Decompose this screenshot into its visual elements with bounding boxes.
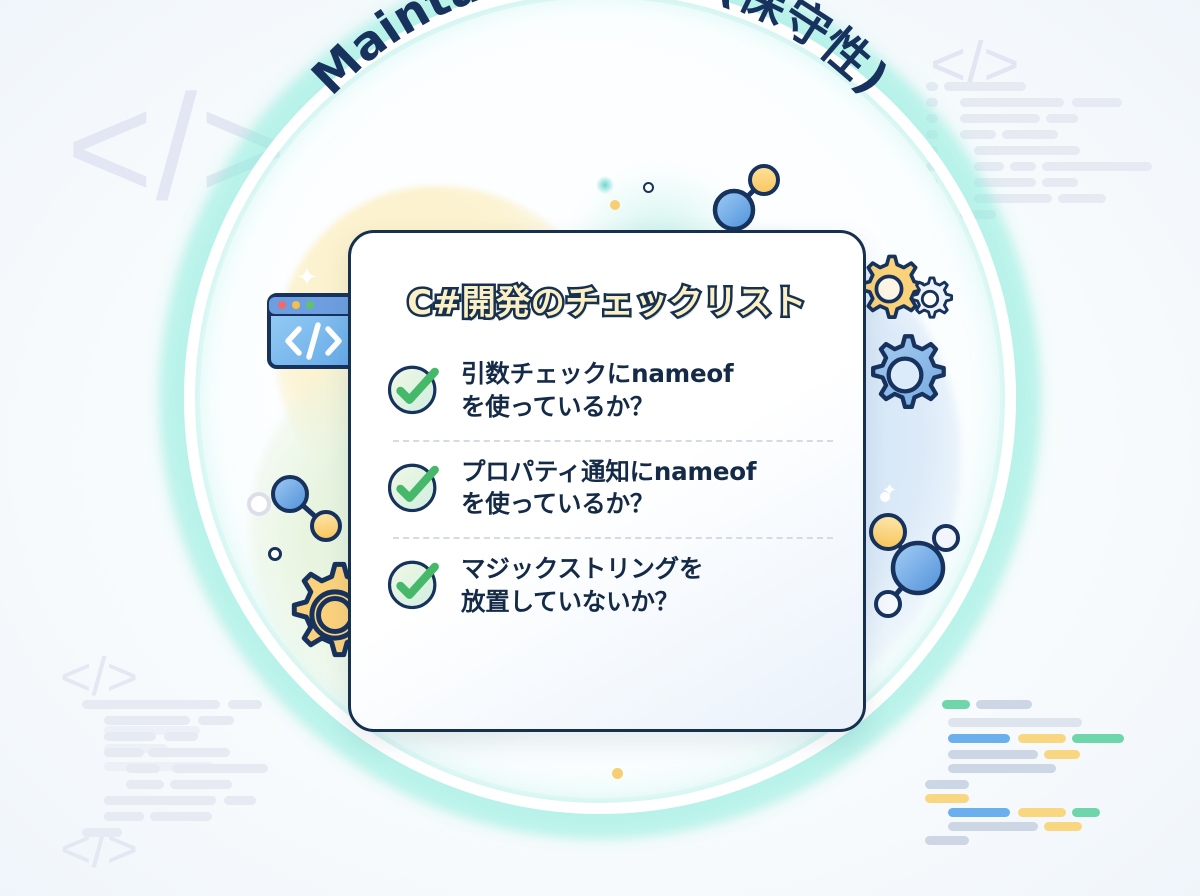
check-circle-icon <box>385 555 443 613</box>
list-item[interactable]: 引数チェックにnameof を使っているか？ <box>385 350 843 434</box>
code-lines-left-extra <box>104 726 284 796</box>
accent-dot-gold2 <box>612 768 623 779</box>
small-light-gear-icon <box>906 275 954 323</box>
list-item-text: マジックストリングを 放置していないか？ <box>461 553 703 619</box>
list-item-text: 引数チェックにnameof を使っているか？ <box>461 358 734 424</box>
check-circle-icon <box>385 458 443 516</box>
list-item[interactable]: マジックストリングを 放置していないか？ <box>385 545 843 629</box>
molecule-left-icon <box>262 470 362 560</box>
list-item-line1: マジックストリングを <box>461 553 703 586</box>
poster-canvas: </> </> </> </> <box>0 0 1200 896</box>
list-item-line1: プロパティ通知にnameof <box>461 456 756 489</box>
molecule-right-icon <box>862 496 972 626</box>
code-glyph-icon-left-bottom: </> <box>60 650 138 704</box>
list-item-line2: を使っているか？ <box>461 391 734 424</box>
large-blue-gear-icon <box>862 332 948 418</box>
list-item-line2: 放置していないか？ <box>461 586 703 619</box>
list-divider <box>393 440 833 442</box>
code-lines-right-bottom <box>920 700 1200 840</box>
check-circle-icon <box>385 360 443 418</box>
checklist: 引数チェックにnameof を使っているか？ プロパティ通 <box>351 350 863 629</box>
list-item[interactable]: プロパティ通知にnameof を使っているか？ <box>385 448 843 532</box>
list-item-line2: を使っているか？ <box>461 488 756 521</box>
list-item-text: プロパティ通知にnameof を使っているか？ <box>461 456 756 522</box>
checklist-card: C#開発のチェックリスト 引数チェックにnameof を使っているか？ <box>348 230 866 732</box>
list-divider <box>393 537 833 539</box>
card-title: C#開発のチェックリスト <box>351 275 863 324</box>
list-item-line1: 引数チェックにnameof <box>461 358 734 391</box>
